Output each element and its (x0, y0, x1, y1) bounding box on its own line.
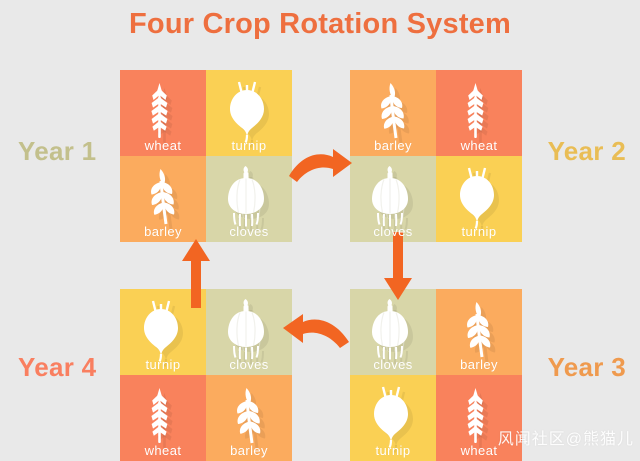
barley-icon (436, 301, 522, 359)
cloves-icon (206, 168, 292, 226)
turnip-icon (436, 168, 522, 226)
year-2-crop-grid: barley wheat cloves turnip (350, 70, 522, 242)
year-label-2: Year 2 (548, 136, 626, 167)
crop-cell-turnip[interactable]: turnip (436, 156, 522, 242)
year-4-crop-grid: turnip cloves wheat barley (120, 289, 292, 461)
crop-label: turnip (376, 443, 411, 458)
crop-cell-barley[interactable]: barley (350, 70, 436, 156)
watermark: 风闻社区@熊猫儿 (498, 425, 634, 449)
crop-cell-wheat[interactable]: wheat (120, 70, 206, 156)
wheat-icon (120, 387, 206, 445)
year-3-crop-grid: cloves barley turnip wheat (350, 289, 522, 461)
crop-label: cloves (229, 357, 268, 372)
crop-label: barley (144, 224, 182, 239)
crop-label: cloves (229, 224, 268, 239)
barley-icon (350, 82, 436, 140)
crop-cell-wheat[interactable]: wheat (120, 375, 206, 461)
year-label-3: Year 3 (548, 352, 626, 383)
crop-cell-barley[interactable]: barley (436, 289, 522, 375)
crop-cell-wheat[interactable]: wheat (436, 70, 522, 156)
crop-label: turnip (146, 357, 181, 372)
crop-label: wheat (461, 443, 498, 458)
cloves-icon (350, 168, 436, 226)
arrow-right-icon (288, 148, 354, 199)
crop-label: wheat (145, 138, 182, 153)
barley-icon (120, 168, 206, 226)
crop-label: turnip (462, 224, 497, 239)
crop-cell-barley[interactable]: barley (120, 156, 206, 242)
diagram-canvas: Four Crop Rotation System Year 1 Year 2 … (0, 0, 640, 457)
turnip-icon (350, 387, 436, 445)
crop-label: barley (374, 138, 412, 153)
crop-label: wheat (461, 138, 498, 153)
crop-label: barley (230, 443, 268, 458)
wheat-icon (436, 82, 522, 140)
crop-cell-cloves[interactable]: cloves (206, 156, 292, 242)
crop-label: barley (460, 357, 498, 372)
crop-label: cloves (373, 357, 412, 372)
crop-cell-turnip[interactable]: turnip (120, 289, 206, 375)
turnip-icon (206, 82, 292, 140)
year-1-crop-grid: wheat turnip barley cloves (120, 70, 292, 242)
crop-cell-barley[interactable]: barley (206, 375, 292, 461)
year-label-1: Year 1 (18, 136, 96, 167)
crop-cell-turnip[interactable]: turnip (206, 70, 292, 156)
cloves-icon (350, 301, 436, 359)
crop-label: cloves (373, 224, 412, 239)
crop-label: turnip (232, 138, 267, 153)
page-title: Four Crop Rotation System (0, 8, 640, 41)
barley-icon (206, 387, 292, 445)
turnip-icon (120, 301, 206, 359)
crop-cell-cloves[interactable]: cloves (350, 156, 436, 242)
crop-label: wheat (145, 443, 182, 458)
crop-cell-cloves[interactable]: cloves (350, 289, 436, 375)
cloves-icon (206, 301, 292, 359)
wheat-icon (120, 82, 206, 140)
crop-cell-cloves[interactable]: cloves (206, 289, 292, 375)
crop-cell-turnip[interactable]: turnip (350, 375, 436, 461)
year-label-4: Year 4 (18, 352, 96, 383)
